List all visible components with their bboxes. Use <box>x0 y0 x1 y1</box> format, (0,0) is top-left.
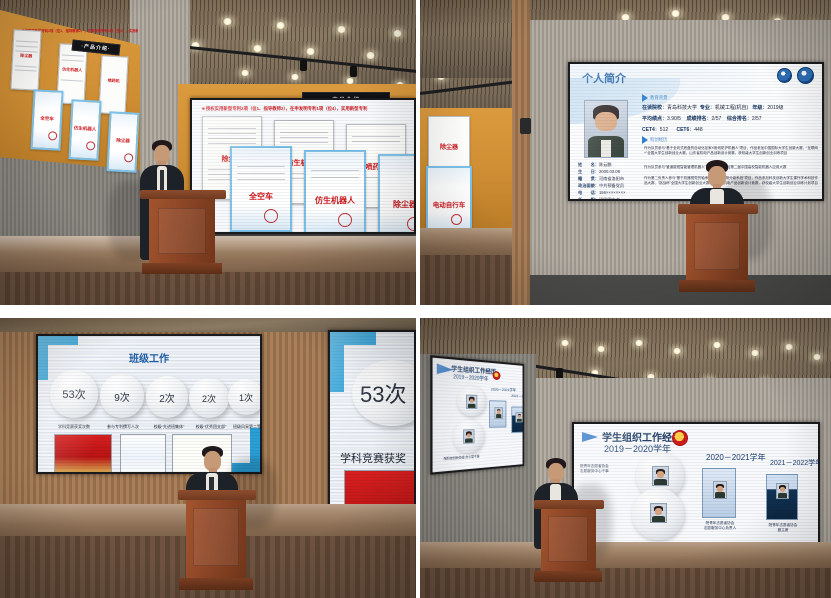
entry-portrait <box>463 429 474 444</box>
metric-bubble-zoomed: 53次 <box>352 360 414 426</box>
seal-icon <box>47 131 56 140</box>
slide-year-2: 2020－2021学年 <box>706 452 766 463</box>
stage-front-edge <box>420 568 831 598</box>
seal-icon <box>85 141 94 150</box>
panel-bottom-left-class-work: 班级工作 53次 9次 2次 2次 <box>0 318 416 598</box>
podium-base <box>534 571 602 582</box>
software-copyright-certificate: 仿生机器人 <box>304 150 366 232</box>
metric-value: 2次 <box>202 392 216 405</box>
podium-base <box>142 263 222 274</box>
entry-card-3 <box>766 474 798 520</box>
profile-row-gpa: 平均绩点：3.90/5 成绩排名：2/57 综合排名：2/57 <box>642 115 762 122</box>
seal-icon <box>407 217 414 231</box>
entry-card-2 <box>702 468 736 518</box>
ceiling-light-icon <box>275 22 286 29</box>
slide-corner-decor <box>38 336 78 345</box>
metric-bubble: 53次 <box>50 370 98 418</box>
podium-front-panel <box>694 222 740 270</box>
podium-top <box>140 190 226 199</box>
triangle-marker-icon <box>582 432 598 442</box>
emblem-icon <box>493 371 501 380</box>
software-copyright-certificate: 电动自行车 <box>426 166 472 234</box>
slide-corner-decor <box>330 332 376 345</box>
patent-headline-main: ■ 授权实用新型专利2项（位1、指导教师2），在申发明专利1项（位4），实用新型… <box>202 106 414 112</box>
patent-label: 喷药机 <box>101 78 126 85</box>
entry-card <box>489 400 506 428</box>
podium-front-panel <box>158 208 206 254</box>
profile-row-name: 姓 名：陈云鹏 <box>578 162 612 168</box>
profile-portrait <box>584 100 628 158</box>
ceiling-light-icon <box>365 52 376 59</box>
section-tag-education: 教育背景 <box>642 94 668 102</box>
metric-bubble: 2次 <box>189 378 229 418</box>
ceiling-light-icon <box>392 30 403 37</box>
panel-top-right-personal-profile: 除尘器 电动自行车 个人简介 <box>420 0 831 305</box>
profile-row-hometown: 籍 贯：河南省洛阳市 <box>578 176 624 182</box>
ceiling-light-icon <box>336 26 347 33</box>
ceiling-light-icon <box>670 10 681 17</box>
college-logo-icon <box>797 67 814 84</box>
ceiling-light-icon <box>712 342 722 348</box>
entry-circle <box>453 420 483 454</box>
profile-row-birthday: 生 日：2000.03.08 <box>578 169 620 175</box>
panel-top-left-product-introduction: ■ 授权实用新型专利2项（位1、指导教师2），在申发明专利1项（位4），实用新型… <box>0 0 416 305</box>
certificate-label: 仿生机器人 <box>306 195 364 206</box>
podium <box>534 500 604 590</box>
patent-label: 除尘器 <box>13 52 39 59</box>
certificate-label: 全空车 <box>232 191 290 202</box>
certificate-label: 除尘器 <box>380 199 414 210</box>
wood-column <box>512 0 530 305</box>
ceiling-light-icon <box>672 348 682 354</box>
triangle-marker-icon <box>642 94 648 102</box>
podium <box>678 204 758 305</box>
banner-label: ·产品介绍· <box>81 42 111 52</box>
profile-row-phone: 电 话：156×××××××× <box>578 190 626 196</box>
seal-icon <box>451 214 462 225</box>
patent-certificate-image <box>120 434 166 472</box>
spotlight-icon <box>350 66 357 77</box>
podium-front-panel <box>548 516 588 562</box>
podium-base <box>679 280 755 292</box>
entry-caption: 院科技创新协会 办公室干事 <box>439 454 484 461</box>
profile-row-position: 任 职：班级团支书 <box>578 197 620 199</box>
photo-collage: ■ 授权实用新型专利2项（位1、指导教师2），在申发明专利1项（位4），实用新型… <box>0 0 831 598</box>
podium-top <box>534 500 604 509</box>
metric-bubble: 1次 <box>228 379 260 415</box>
metric-value: 1次 <box>239 391 253 404</box>
entry-portrait <box>650 503 667 523</box>
spotlight-icon <box>300 60 307 71</box>
metric-value: 53次 <box>62 386 85 402</box>
slide-year: 2019－2020学年 <box>453 373 488 382</box>
podium-top <box>178 490 256 500</box>
metric-bubble: 9次 <box>100 374 144 418</box>
podium-top <box>678 204 758 214</box>
metric-value: 9次 <box>114 389 130 404</box>
entry-portrait <box>776 483 789 499</box>
slide-title: 个人简介 <box>582 70 626 86</box>
certificate-label: 全空车 <box>34 115 60 122</box>
profile-row-political: 政治面貌：中共预备党员 <box>578 183 624 189</box>
award-certificate-image <box>54 434 112 472</box>
slide-year: 2021－2022学年 <box>511 393 522 399</box>
profile-row-cet: CET4：512 CET6：448 <box>642 126 703 133</box>
profile-row-school: 在读院校：青岛科技大学 专业：机械工程(机自) 年级：2019级 <box>642 104 784 111</box>
software-copyright-certificate: 全空车 <box>30 89 63 150</box>
podium-front-panel <box>193 508 239 566</box>
wall-speaker-icon <box>520 118 531 134</box>
slide-title: 班级工作 <box>38 350 260 365</box>
podium <box>140 190 226 286</box>
ceiling-light-icon <box>252 45 263 52</box>
ceiling-light-icon <box>222 18 233 25</box>
adjacent-stage-front <box>420 255 512 305</box>
entry-caption: 院青年志愿者协会 志愿服务中心负责人 <box>692 521 748 531</box>
entry-portrait <box>494 407 503 419</box>
patent-label: 除尘器 <box>429 142 469 151</box>
adjacent-ceiling <box>420 0 512 78</box>
ceiling-light-icon <box>812 354 822 360</box>
podium-base <box>179 578 253 590</box>
entry-portrait <box>466 394 477 408</box>
entry-circle-2 <box>632 488 684 540</box>
seal-icon <box>338 213 352 227</box>
led-screen-side: 学生组织工作经历 2019－2020学年 2020－2021学年 2021－20… <box>430 355 524 475</box>
slide-year-3: 2021－2022学年 <box>770 458 818 468</box>
patent-certificate: 喷药机 <box>99 55 129 114</box>
ceiling-light-icon <box>290 74 300 80</box>
entry-caption: 院青年志愿者协会 副主席 <box>758 523 808 533</box>
ceiling-light-icon <box>784 344 794 350</box>
ceiling-light-icon <box>305 48 316 55</box>
triangle-marker-icon <box>642 136 648 144</box>
certificate-label: 仿生机器人 <box>72 125 98 132</box>
certificate-label: 电动自行车 <box>428 199 470 209</box>
software-copyright-certificate: 除尘器 <box>378 154 414 232</box>
entry-portrait <box>713 481 727 499</box>
entry-portrait <box>515 412 522 422</box>
patent-label: 仿生机器人 <box>59 66 85 73</box>
ceiling-light-icon <box>750 350 760 356</box>
ceiling-light-icon <box>560 340 570 346</box>
ceiling-light-icon <box>634 340 644 346</box>
entry-portrait <box>652 466 669 486</box>
metric-value: 53次 <box>360 377 406 409</box>
patent-certificate: 除尘器 <box>10 29 41 90</box>
software-copyright-certificate: 仿生机器人 <box>68 99 101 160</box>
section-tag-innovation: 科创经历 <box>642 136 668 144</box>
ceiling-light-icon <box>596 346 606 352</box>
metric-label: 班级风采第二等奖 <box>224 424 260 430</box>
seal-icon <box>264 209 278 223</box>
panel-bottom-right-organization-experience: 学生组织工作经历 2019－2020学年 2020－2021学年 2021－20… <box>420 318 831 598</box>
university-logo-icon <box>777 68 792 83</box>
ceiling-light-icon <box>240 70 250 76</box>
adjacent-stage <box>420 228 512 258</box>
metric-bubble: 2次 <box>146 376 188 418</box>
zoomed-caption: 学科竞赛获奖 <box>340 450 414 466</box>
entry-card <box>511 406 522 433</box>
metric-value: 2次 <box>159 390 175 405</box>
podium <box>178 490 256 598</box>
entry-circle <box>457 385 485 416</box>
software-copyright-certificate: 全空车 <box>230 146 292 232</box>
emblem-icon <box>672 430 688 446</box>
